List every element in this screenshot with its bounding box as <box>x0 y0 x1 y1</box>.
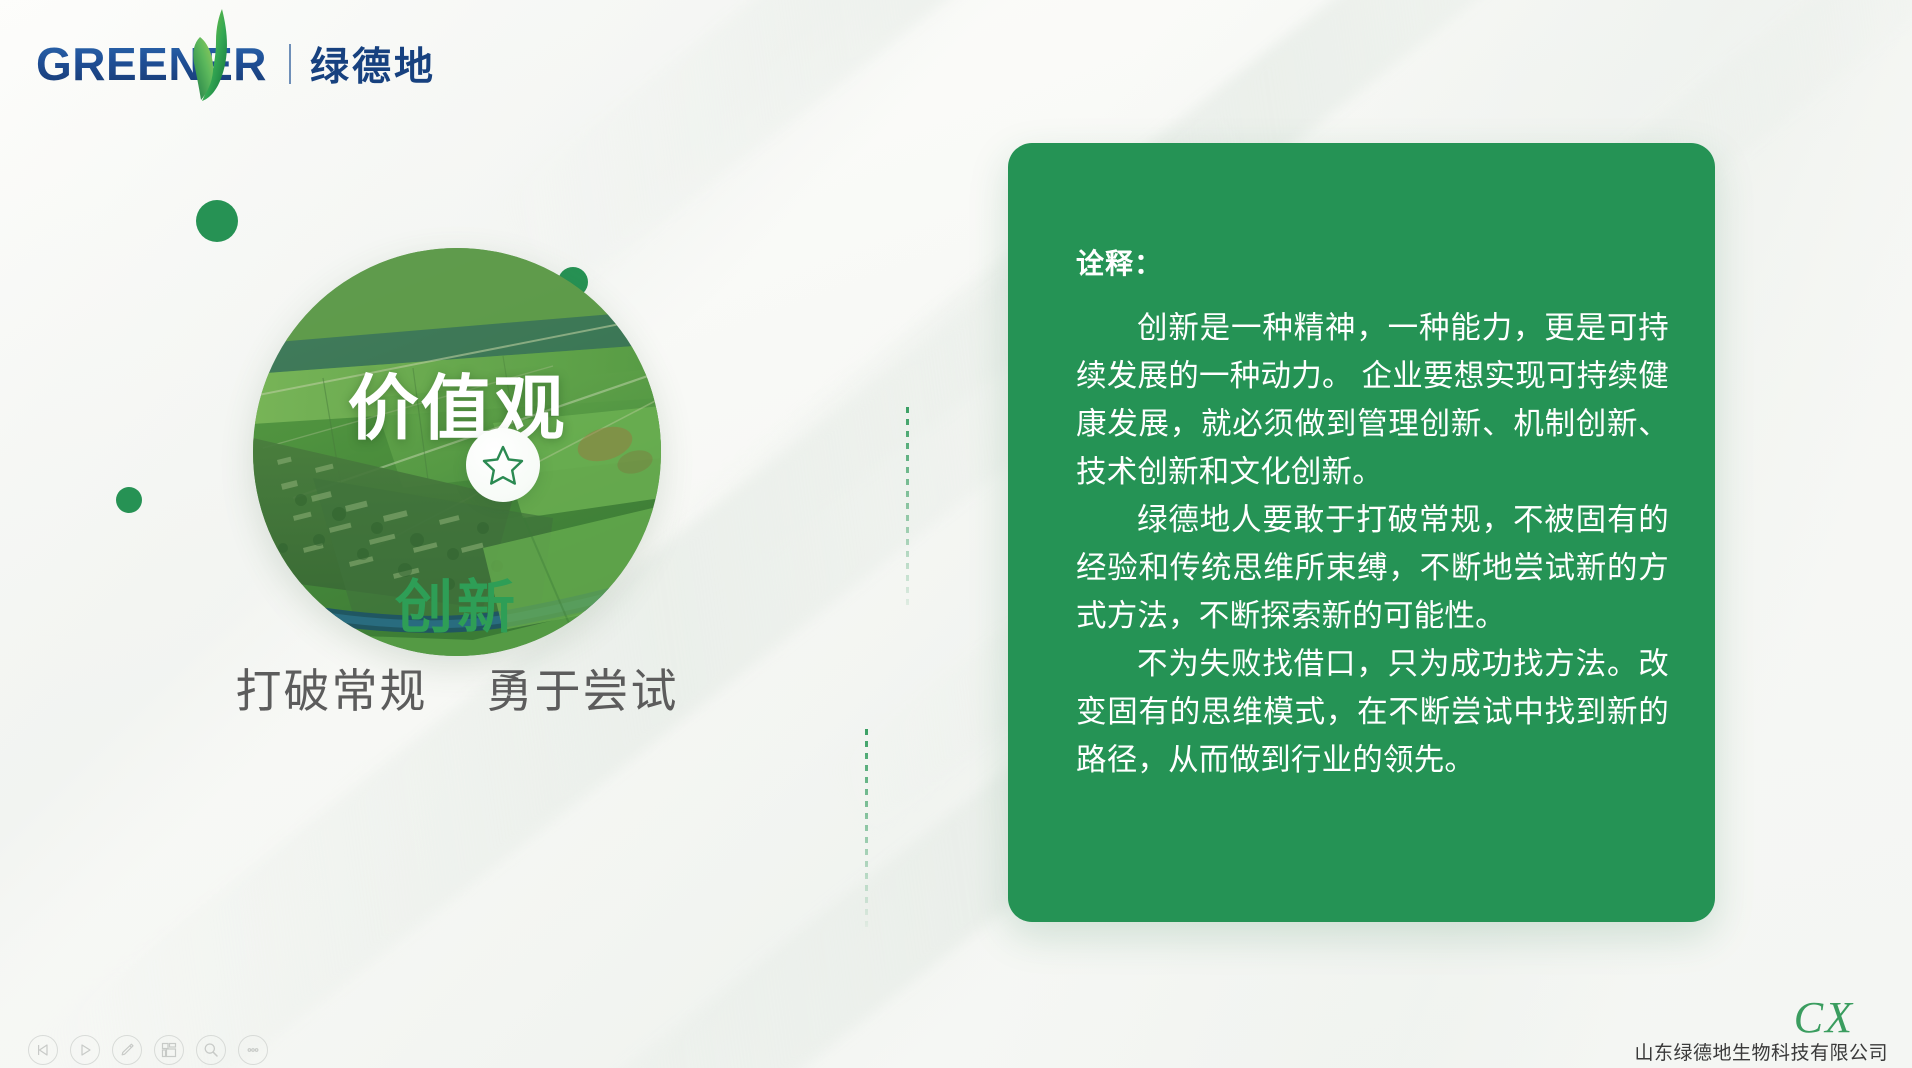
logo-divider <box>289 44 291 84</box>
ellipsis-icon <box>244 1041 262 1059</box>
previous-slide-button[interactable] <box>28 1035 58 1065</box>
company-name-footer: 山东绿德地生物科技有限公司 <box>1634 1038 1888 1065</box>
magnifier-icon <box>202 1041 220 1059</box>
value-subtitle: 打破常规 勇于尝试 <box>133 655 781 721</box>
explanation-paragraph: 创新是一种精神，一种能力，更是可持续发展的一种动力。 企业要想实现可持续健康发展… <box>1076 304 1669 496</box>
logo-chinese-name: 绿德地 <box>310 36 436 92</box>
previous-icon <box>36 1043 50 1057</box>
company-logo: GREENER 绿德地 <box>36 33 436 95</box>
dotted-divider-lower <box>865 729 868 929</box>
slide-overview-button[interactable] <box>154 1035 184 1065</box>
cx-watermark: CX <box>1794 992 1854 1043</box>
explanation-content: 诠释： 创新是一种精神，一种能力，更是可持续发展的一种动力。 企业要想实现可持续… <box>1076 242 1669 784</box>
logo-wordmark: GREENER <box>36 33 267 95</box>
presentation-toolbar <box>28 1035 268 1065</box>
more-options-button[interactable] <box>238 1035 268 1065</box>
pen-icon <box>118 1041 136 1059</box>
zoom-button[interactable] <box>196 1035 226 1065</box>
pen-tool-button[interactable] <box>112 1035 142 1065</box>
green-dot-large <box>196 200 238 242</box>
grid-icon <box>160 1041 178 1059</box>
explanation-panel: 诠释： 创新是一种精神，一种能力，更是可持续发展的一种动力。 企业要想实现可持续… <box>1008 143 1715 922</box>
star-badge <box>466 428 540 502</box>
play-icon <box>78 1043 92 1057</box>
explanation-heading: 诠释： <box>1076 242 1669 282</box>
star-icon <box>481 443 525 487</box>
value-title: 创新 <box>133 560 781 644</box>
next-slide-button[interactable] <box>70 1035 100 1065</box>
explanation-paragraph: 绿德地人要敢于打破常规，不被固有的经验和传统思维所束缚，不断地尝试新的方式方法，… <box>1076 496 1669 640</box>
circle-overlay-title: 价值观 <box>253 352 661 454</box>
slide-canvas: GREENER 绿德地 <box>0 0 1912 1068</box>
dotted-divider-upper <box>906 407 909 607</box>
explanation-paragraph: 不为失败找借口，只为成功找方法。改变固有的思维模式，在不断尝试中找到新的路径，从… <box>1076 640 1669 784</box>
green-dot-small <box>116 487 142 513</box>
